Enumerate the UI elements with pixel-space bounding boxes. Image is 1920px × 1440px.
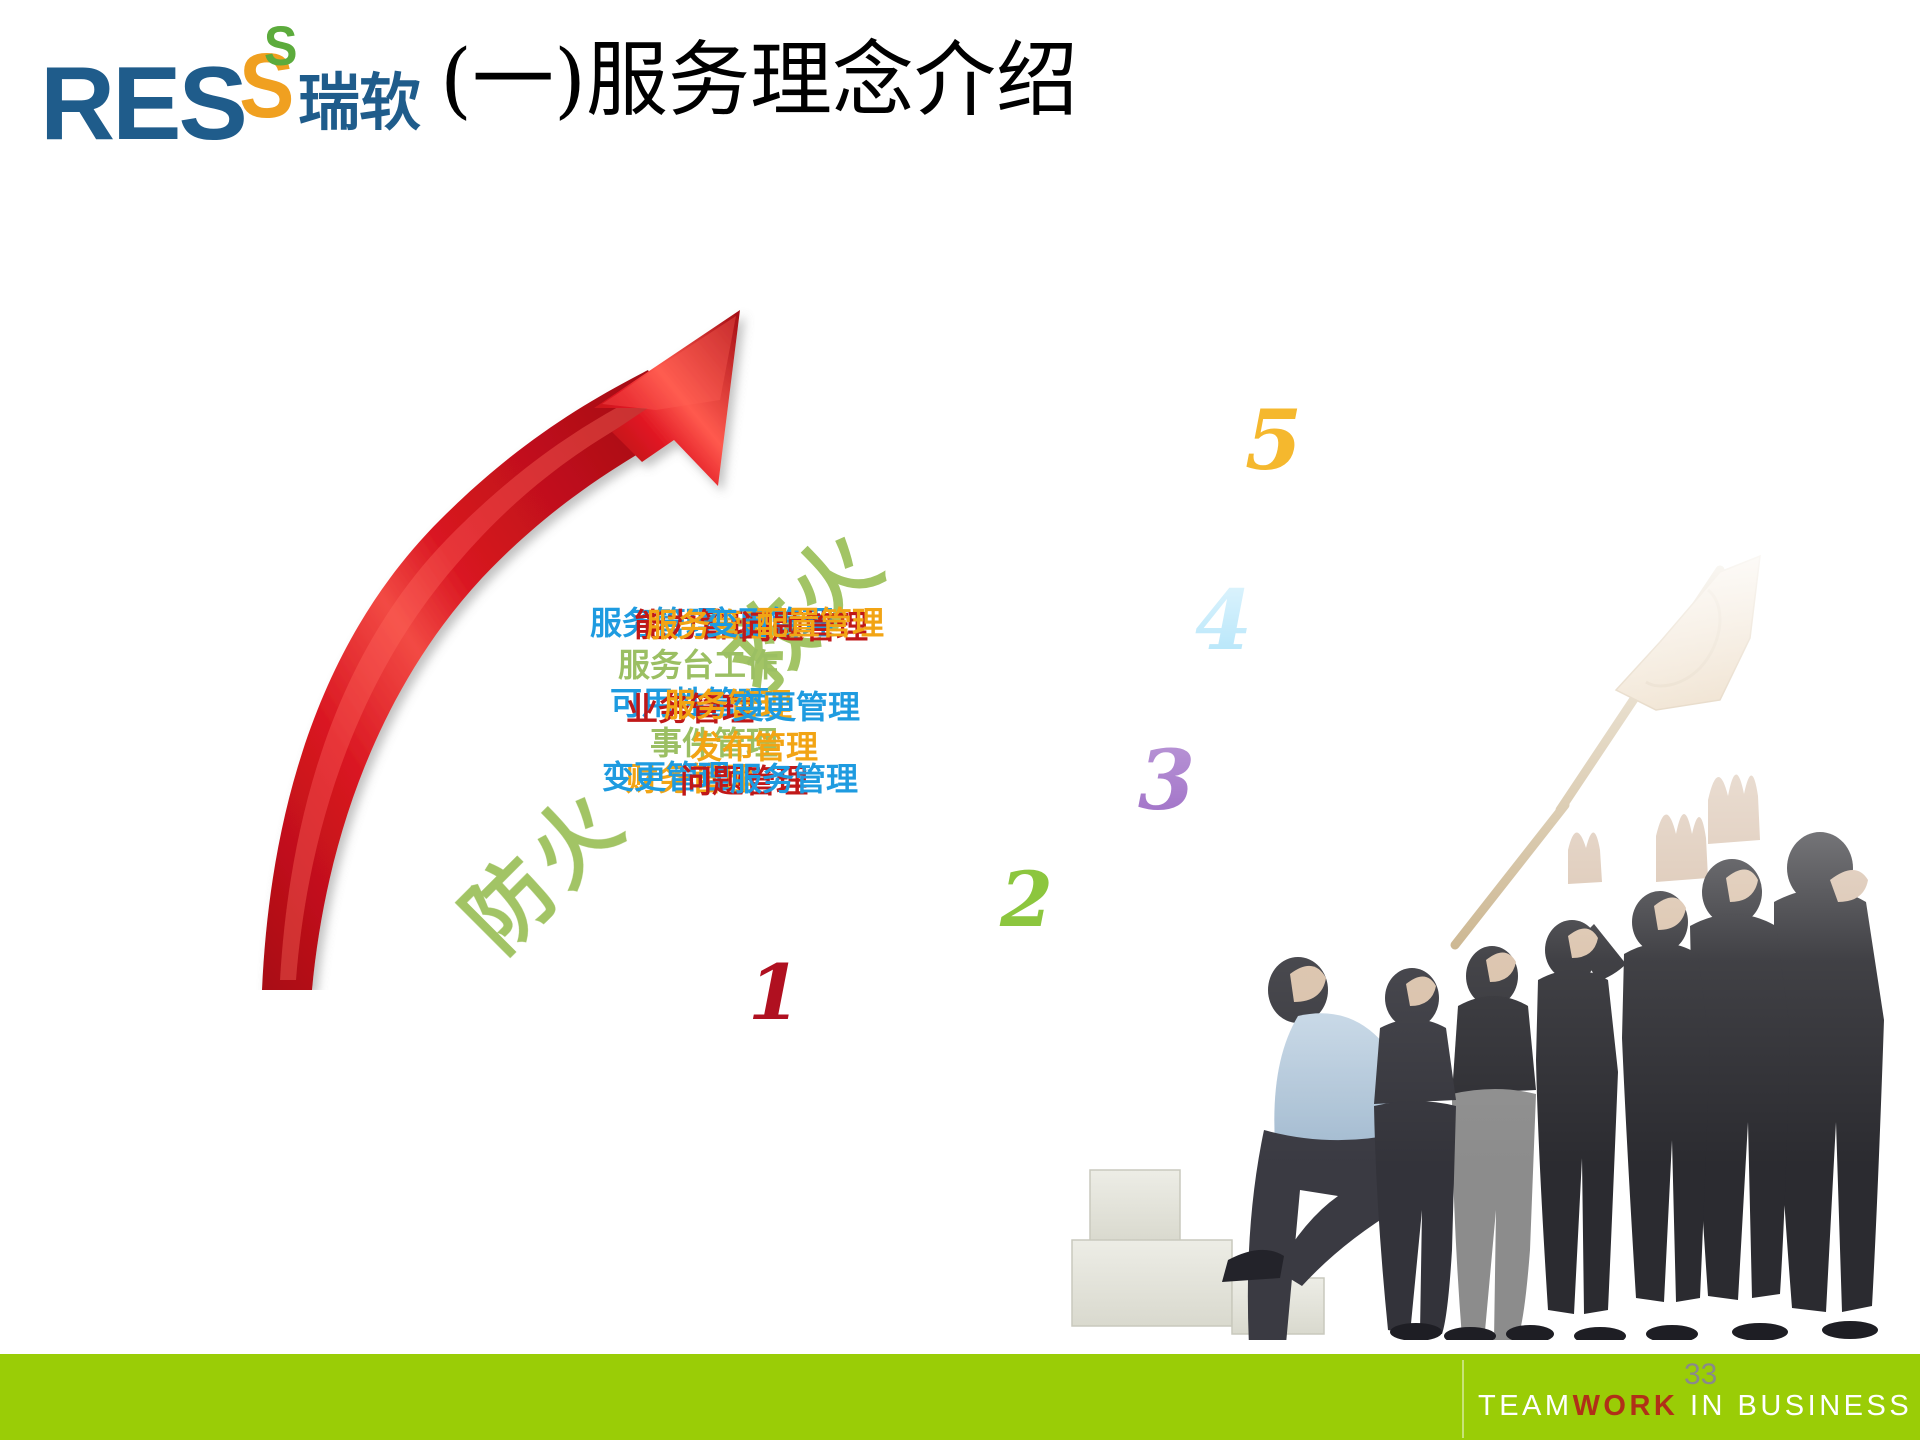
logo-text-chinese: 瑞软 xyxy=(298,72,420,134)
process-word: 服务台工作 xyxy=(618,649,778,681)
slide-footer: TEAMWORK IN BUSINESS 33 xyxy=(0,1354,1920,1440)
step-number-5: 5 xyxy=(1245,400,1302,482)
process-word: 服务管理 xyxy=(730,763,858,795)
process-word: 配置管理 xyxy=(756,607,884,639)
step-number-2: 2 xyxy=(1000,862,1053,938)
teamwork-illustration xyxy=(1060,550,1920,1340)
tagline-post: IN BUSINESS xyxy=(1678,1390,1912,1422)
process-word: 变更管理 xyxy=(732,691,860,723)
teamwork-photo xyxy=(1060,550,1920,1340)
step-number-1: 1 xyxy=(748,955,801,1031)
slide-header: RES S S 瑞软 (一)服务理念介绍 xyxy=(0,0,1920,190)
logo-text-res: RES xyxy=(40,52,245,156)
footer-tagline: TEAMWORK IN BUSINESS xyxy=(1478,1390,1912,1423)
company-logo: RES S S 瑞软 xyxy=(40,20,420,150)
page-number: 33 xyxy=(1684,1358,1717,1392)
tagline-highlight: WORK xyxy=(1573,1390,1679,1422)
process-word-cluster: 服务管理能力管理服务管理变更管理问题管理配置管理服务台工作可用性管理业务管理服务… xyxy=(590,605,920,795)
people-group-dark xyxy=(1536,832,1884,1314)
logo-green-s-icon: S xyxy=(264,18,298,74)
footer-divider xyxy=(1462,1360,1464,1438)
tagline-pre: TEAM xyxy=(1478,1390,1573,1422)
page-title: (一)服务理念介绍 xyxy=(440,36,1078,126)
person-behind-climber xyxy=(1374,968,1456,1334)
person-grey-skirt xyxy=(1452,946,1536,1340)
